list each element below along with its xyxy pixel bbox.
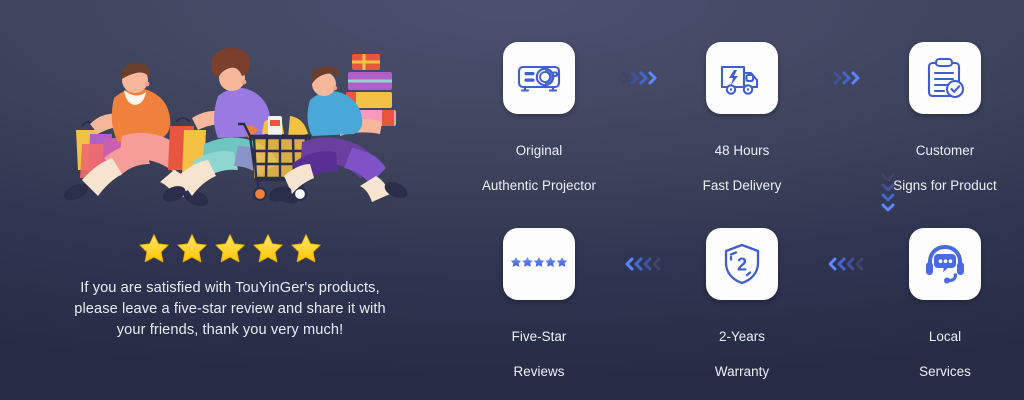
- projector-icon: [514, 53, 564, 103]
- connector-bottom-1: [618, 228, 663, 300]
- projector-tile[interactable]: [503, 42, 575, 114]
- gold-star-icon: [175, 232, 209, 266]
- review-panel: If you are satisfied with TouYinGer's pr…: [0, 0, 460, 400]
- feature-label-line2: Services: [919, 364, 971, 379]
- chevron-down-quad-icon: [878, 171, 898, 219]
- chevron-right-quad-icon: [823, 69, 865, 87]
- connector-down: [858, 166, 918, 224]
- connector-bottom-2: [821, 228, 866, 300]
- clipboard-check-icon: [920, 53, 970, 103]
- feature-label-line2: Warranty: [715, 364, 769, 379]
- feature-label: Five-Star Reviews: [512, 310, 567, 380]
- feature-label-line1: Original: [516, 143, 563, 158]
- feature-label-line1: Five-Star: [512, 329, 567, 344]
- gold-star-icon: [251, 232, 285, 266]
- delivery-tile[interactable]: [706, 42, 778, 114]
- chevron-left-quad-icon: [823, 255, 865, 273]
- review-line-2: please leave a five-star review and shar…: [48, 299, 412, 320]
- feature-label: 48 Hours Fast Delivery: [703, 124, 782, 194]
- feature-label: Local Services: [919, 310, 971, 380]
- svg-text:2: 2: [737, 255, 747, 275]
- feature-label: 2-Years Warranty: [715, 310, 769, 380]
- feature-label-line1: Local: [929, 329, 961, 344]
- shield-2-icon: 2: [719, 241, 765, 287]
- feature-row-top: Original Authentic Projector: [460, 42, 1024, 172]
- local-services-tile[interactable]: [909, 228, 981, 300]
- headset-support-icon: [921, 242, 969, 286]
- five-stars-tile[interactable]: [503, 228, 575, 300]
- feature-original-authentic-projector[interactable]: Original Authentic Projector: [460, 42, 618, 194]
- feature-label-line1: Customer: [916, 143, 974, 158]
- chevron-left-quad-icon: [620, 255, 662, 273]
- five-stars-icon: [510, 256, 568, 272]
- connector-top-1: [618, 42, 663, 114]
- chevron-right-quad-icon: [620, 69, 662, 87]
- connector-top-2: [821, 42, 866, 114]
- three-shoppers-running-illustration: [52, 38, 452, 238]
- review-invitation-text: If you are satisfied with TouYinGer's pr…: [48, 278, 412, 341]
- feature-label-line2: Reviews: [514, 364, 565, 379]
- feature-2-years-warranty[interactable]: 2 2-Years Warranty: [663, 228, 821, 380]
- feature-five-star-reviews[interactable]: Five-Star Reviews: [460, 228, 618, 380]
- feature-label-line2: Authentic Projector: [482, 178, 596, 193]
- promo-banner: If you are satisfied with TouYinGer's pr…: [0, 0, 1024, 400]
- warranty-tile[interactable]: 2: [706, 228, 778, 300]
- feature-label-line2: Fast Delivery: [703, 178, 782, 193]
- gold-star-icon: [213, 232, 247, 266]
- review-line-3: your friends, thank you very much!: [48, 320, 412, 341]
- feature-48-hours-fast-delivery[interactable]: 48 Hours Fast Delivery: [663, 42, 821, 194]
- review-line-1: If you are satisfied with TouYinGer's pr…: [48, 278, 412, 299]
- feature-label: Original Authentic Projector: [482, 124, 596, 194]
- delivery-truck-icon: [717, 53, 767, 103]
- gold-star-icon: [289, 232, 323, 266]
- feature-row-bottom: Five-Star Reviews: [460, 228, 1024, 358]
- star-rating: [0, 232, 460, 266]
- gold-star-icon: [137, 232, 171, 266]
- feature-label-line1: 48 Hours: [715, 143, 770, 158]
- feature-label-line1: 2-Years: [719, 329, 765, 344]
- service-features-panel: Original Authentic Projector: [460, 0, 1024, 400]
- feature-local-services[interactable]: Local Services: [866, 228, 1024, 380]
- clipboard-tile[interactable]: [909, 42, 981, 114]
